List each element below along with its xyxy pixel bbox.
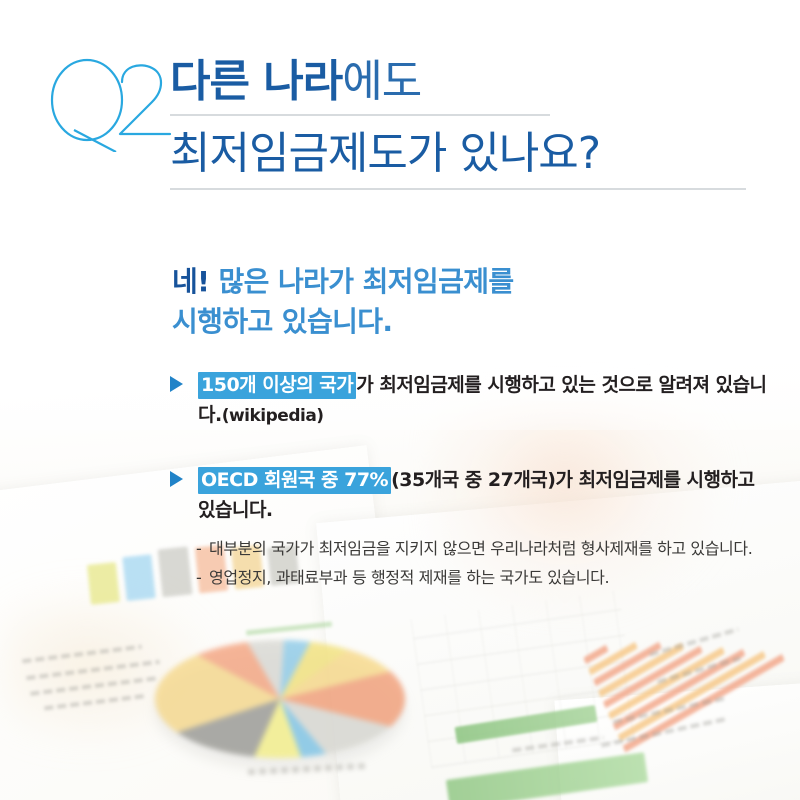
- infographic-page: Q2 다른 나라에도 최저임금제도가 있나요? 네! 많은 나라가 최저임금제를…: [0, 0, 800, 800]
- sub-bullet-text: 대부분의 국가가 최저임금을 지키지 않으면 우리나라처럼 형사제재를 하고 있…: [209, 539, 752, 558]
- bullet-list: 150개 이상의 국가가 최저임금제를 시행하고 있는 것으로 알려져 있습니다…: [170, 370, 770, 533]
- question-title-line-2: 최저임금제도가 있나요?: [170, 126, 770, 182]
- bullet-text: 150개 이상의 국가가 최저임금제를 시행하고 있는 것으로 알려져 있습니다…: [198, 370, 770, 431]
- sub-bullet-item: - 대부분의 국가가 최저임금을 지키지 않으면 우리나라처럼 형사제재를 하고…: [196, 536, 776, 561]
- sub-bullet-item: - 영업정지, 과태료부과 등 행정적 제재를 하는 국가도 있습니다.: [196, 565, 776, 590]
- question-title-line-1: 다른 나라에도: [170, 54, 770, 110]
- question-title-emphasis: 다른 나라: [170, 56, 342, 107]
- answer-lead-line-2: 시행하고 있습니다.: [172, 305, 392, 338]
- sub-bullet-list: - 대부분의 국가가 최저임금을 지키지 않으면 우리나라처럼 형사제재를 하고…: [196, 536, 776, 594]
- bullet-source: (wikipedia): [222, 406, 324, 426]
- dash-marker: -: [196, 565, 201, 590]
- title-divider-1: [170, 114, 550, 116]
- answer-lead-emphasis: 네!: [172, 265, 209, 298]
- bullet-highlight: 150개 이상의 국가: [198, 372, 356, 399]
- triangle-bullet-icon: [170, 471, 183, 487]
- title-divider-2: [170, 188, 746, 190]
- bullet-item: 150개 이상의 국가가 최저임금제를 시행하고 있는 것으로 알려져 있습니다…: [170, 370, 770, 431]
- bullet-text: OECD 회원국 중 77%(35개국 중 27개국)가 최저임금제를 시행하고…: [198, 465, 770, 525]
- question-title-line-1-rest: 에도: [342, 56, 421, 107]
- answer-lead: 네! 많은 나라가 최저임금제를 시행하고 있습니다.: [172, 262, 732, 342]
- sub-bullet-text: 영업정지, 과태료부과 등 행정적 제재를 하는 국가도 있습니다.: [209, 568, 609, 587]
- triangle-bullet-icon: [170, 376, 183, 392]
- content-layer: Q2 다른 나라에도 최저임금제도가 있나요? 네! 많은 나라가 최저임금제를…: [0, 0, 800, 800]
- question-title-block: 다른 나라에도 최저임금제도가 있나요?: [170, 54, 770, 190]
- answer-lead-line-1: 많은 나라가 최저임금제를: [209, 265, 513, 298]
- bullet-highlight: OECD 회원국 중 77%: [198, 467, 391, 494]
- bullet-item: OECD 회원국 중 77%(35개국 중 27개국)가 최저임금제를 시행하고…: [170, 465, 770, 525]
- question-number-icon: Q2: [44, 52, 174, 152]
- dash-marker: -: [196, 536, 201, 561]
